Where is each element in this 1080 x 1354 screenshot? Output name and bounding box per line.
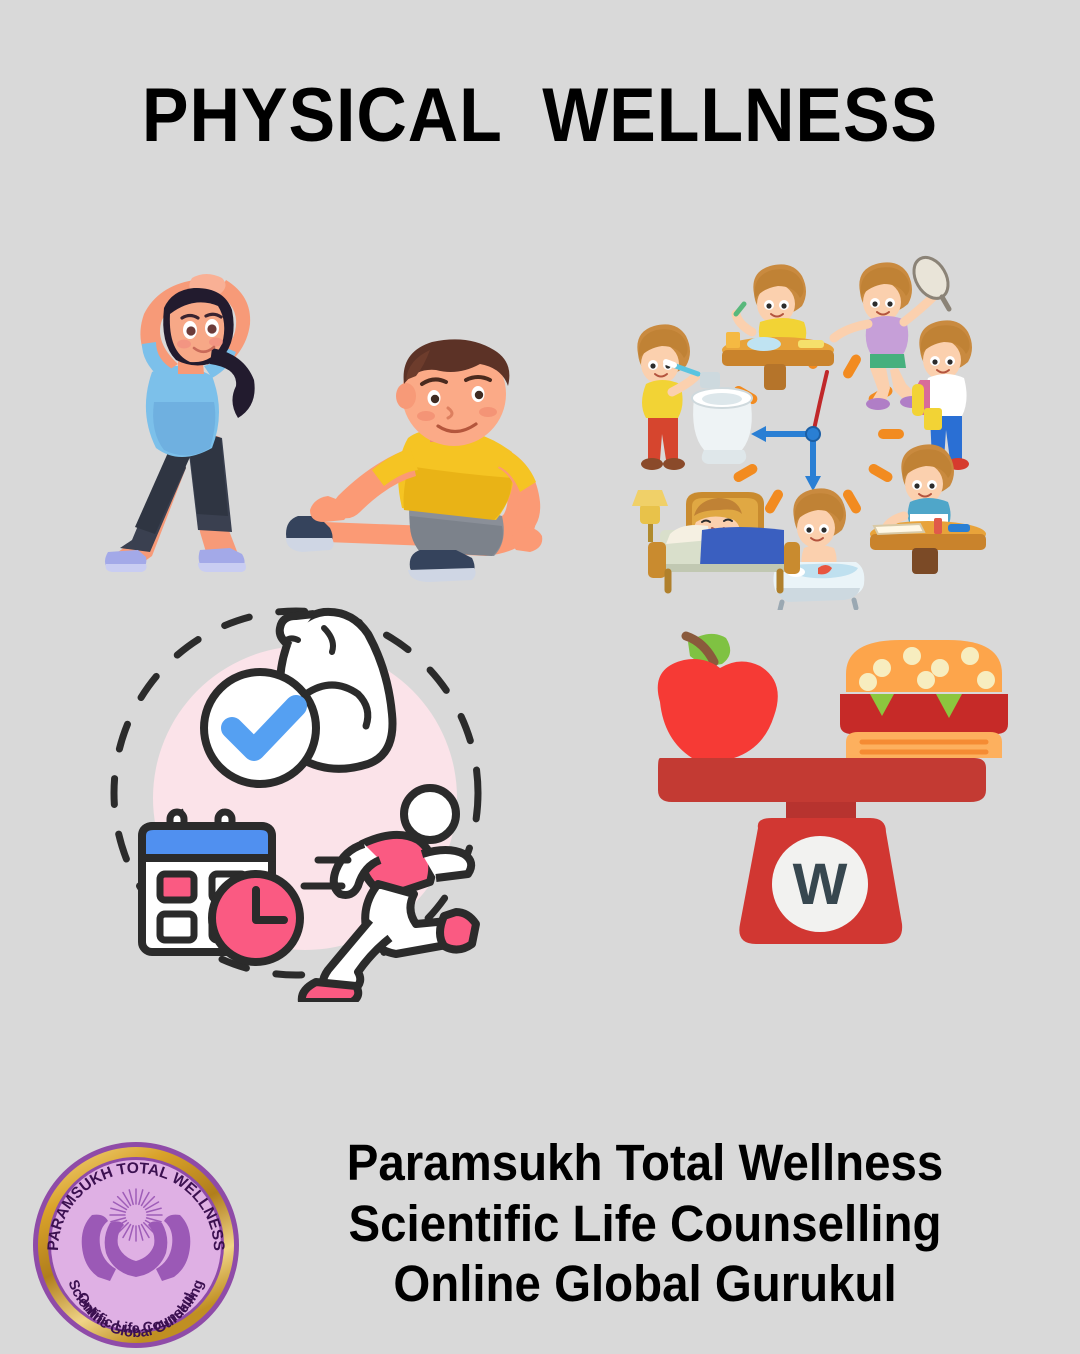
food-balance-svg: W	[630, 612, 1010, 972]
footer-line-3: Online Global Gurukul	[278, 1254, 1013, 1315]
food-balance-scale-illustration: W	[630, 612, 1010, 972]
footer-line-1: Paramsukh Total Wellness	[278, 1133, 1013, 1194]
scale-dial-label: W	[793, 852, 848, 917]
woman-side-stretch-svg	[60, 252, 310, 582]
clock-hands	[751, 372, 827, 491]
footer-line-2: Scientific Life Counselling	[278, 1194, 1013, 1255]
burger-icon	[840, 640, 1008, 758]
woman-side-stretch-illustration	[60, 252, 310, 582]
apple-icon	[658, 634, 778, 758]
fitness-routine-illustration	[100, 598, 510, 1002]
check-badge-icon	[204, 672, 316, 784]
man-seated-stretch-svg	[280, 330, 565, 592]
logo-svg: PARAMSUKH TOTAL WELLNESS Scientific Life…	[32, 1141, 240, 1349]
scale-body: W	[739, 818, 902, 944]
paramsukh-total-wellness-logo[interactable]: PARAMSUKH TOTAL WELLNESS Scientific Life…	[32, 1141, 240, 1349]
clock-icon	[212, 874, 300, 962]
page-title: PHYSICAL WELLNESS	[43, 78, 1037, 154]
fitness-routine-svg	[100, 598, 510, 1002]
daily-routine-svg	[620, 248, 1005, 610]
daily-routine-clock-illustration	[620, 248, 1005, 610]
footer-organisation-text: Paramsukh Total Wellness Scientific Life…	[278, 1133, 1013, 1315]
scale-platform	[658, 758, 986, 828]
man-seated-hamstring-stretch-illustration	[280, 330, 565, 592]
activity-eating-breakfast	[722, 264, 834, 390]
poster-canvas: PHYSICAL WELLNESS	[0, 0, 1080, 1350]
